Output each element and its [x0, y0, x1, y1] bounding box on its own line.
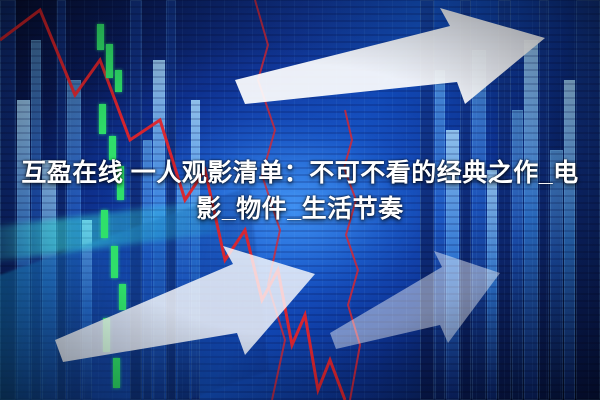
caption-text: 互盈在线 一人观影清单：不可不看的经典之作_电影_物件_生活节奏: [0, 155, 600, 228]
image-canvas: 互盈在线 一人观影清单：不可不看的经典之作_电影_物件_生活节奏: [0, 0, 600, 400]
